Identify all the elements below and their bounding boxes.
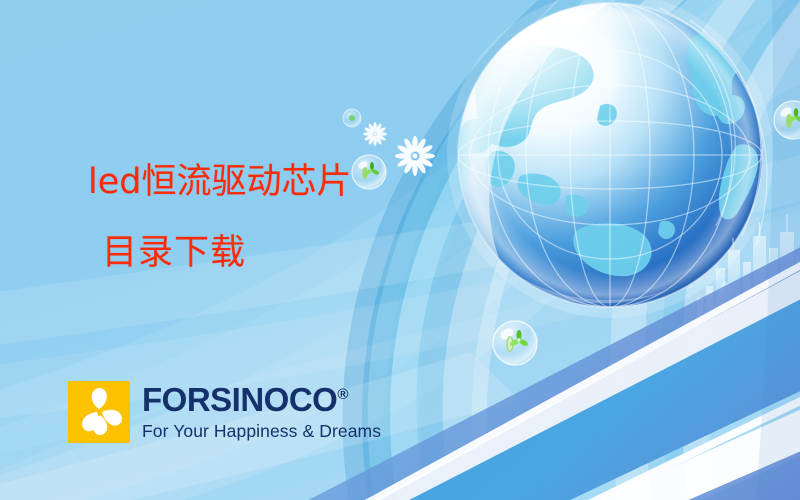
bubble-pinwheel-mid [493, 321, 537, 365]
logo-wordmark: FORSINOCO® For Your Happiness & Dreams [142, 381, 381, 441]
registered-trademark-icon: ® [337, 386, 348, 403]
headline: led恒流驱动芯片 目录下载 [88, 163, 351, 273]
bubble-pinwheel-small-top [343, 109, 361, 127]
brand-name-text: FORSINOCO [142, 381, 337, 418]
company-logo[interactable]: FORSINOCO® For Your Happiness & Dreams [68, 381, 381, 443]
forsinoco-pinwheel-mark [68, 381, 130, 443]
brand-tagline: For Your Happiness & Dreams [142, 423, 381, 441]
brand-name: FORSINOCO® [142, 383, 381, 416]
promo-banner: led恒流驱动芯片 目录下载 FORSINOCO® For Your Happi… [0, 0, 800, 500]
headline-line-1: led恒流驱动芯片 [88, 163, 351, 202]
headline-line-2: 目录下载 [102, 234, 351, 273]
bubble-pinwheel-top [352, 155, 386, 189]
